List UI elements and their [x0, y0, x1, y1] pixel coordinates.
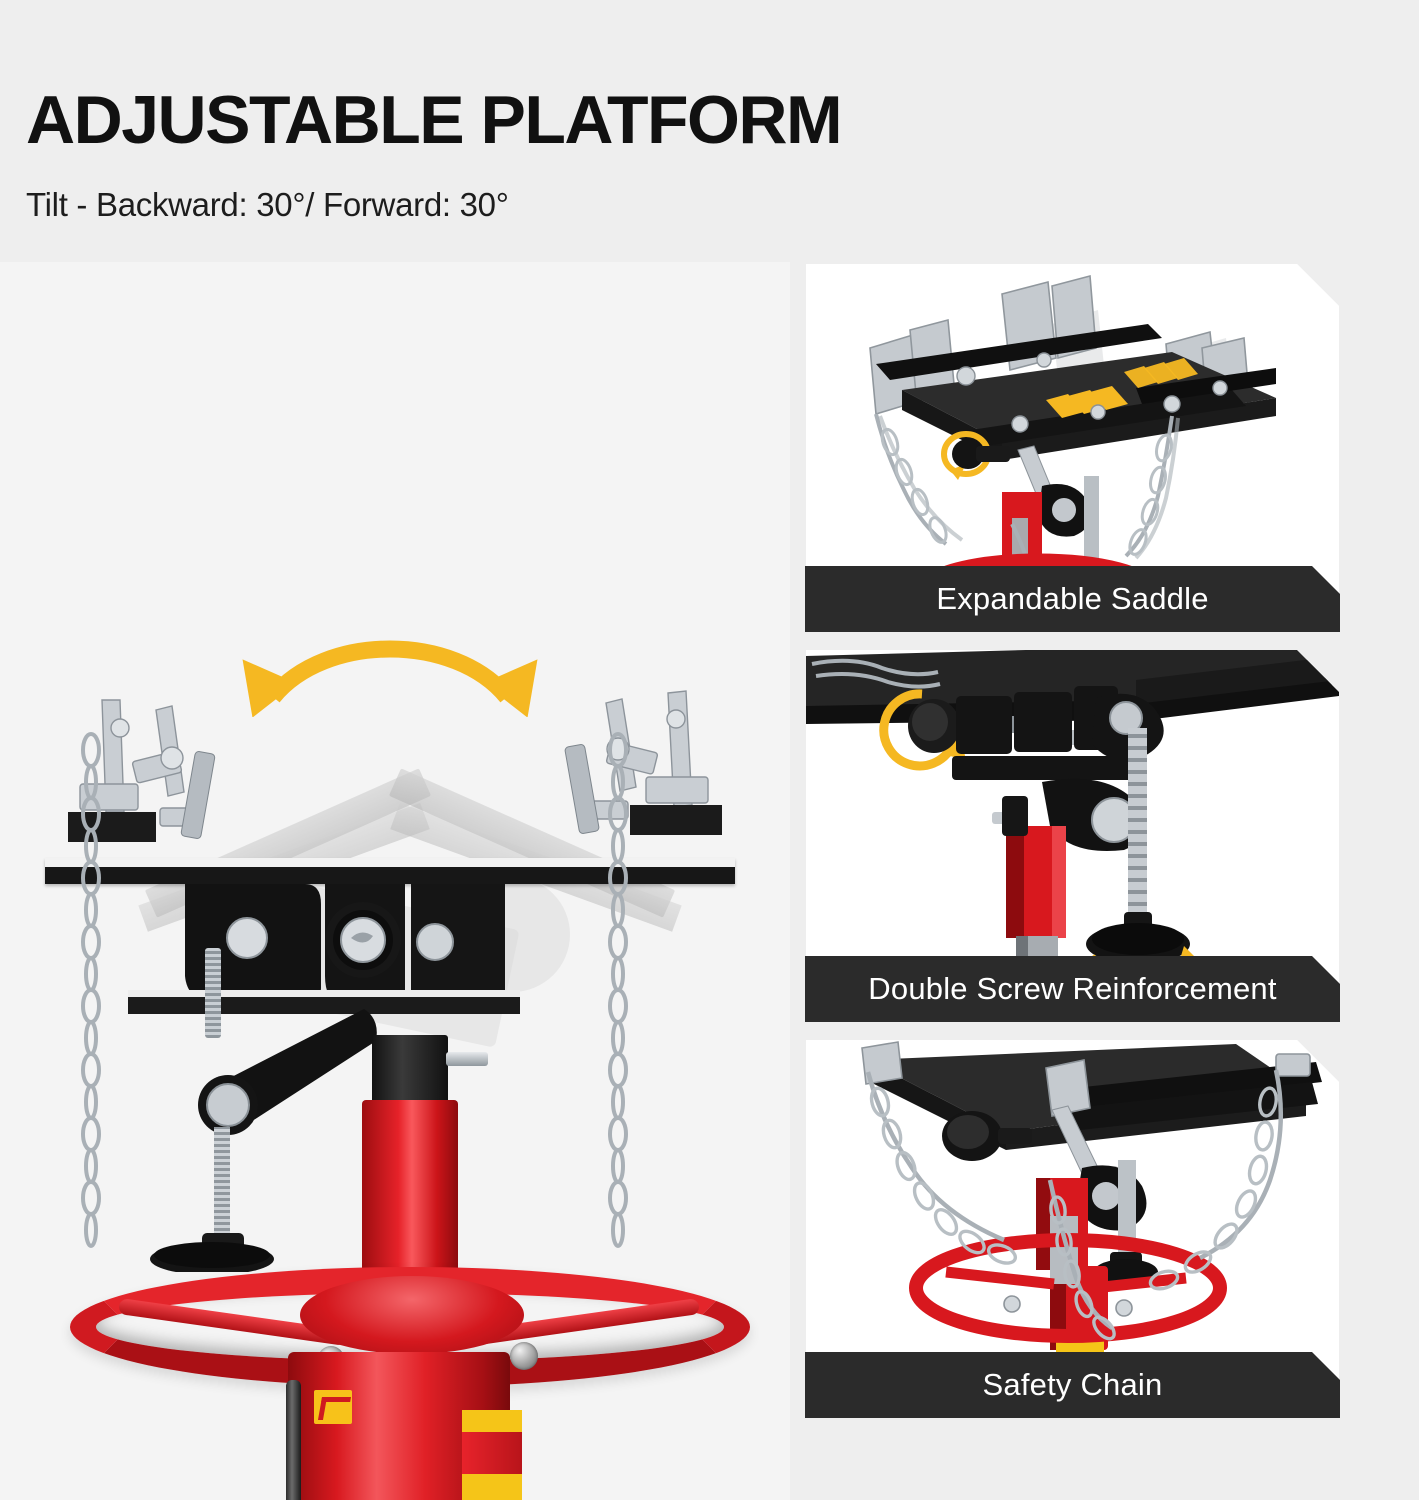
page-title: ADJUSTABLE PLATFORM [26, 86, 1206, 154]
safety-chain-left [78, 732, 104, 1252]
caption-text: Double Screw Reinforcement [868, 971, 1276, 1007]
caption-text: Safety Chain [983, 1367, 1163, 1403]
pedal-bolt-right [510, 1342, 538, 1370]
caption-double-screw: Double Screw Reinforcement [805, 956, 1340, 1022]
page-subtitle: Tilt - Backward: 30°/ Forward: 30° [26, 186, 1206, 224]
tilt-arc-arrow-icon [215, 627, 565, 717]
pedal-hub [300, 1276, 524, 1354]
saddle-corner-bracket-right [550, 687, 735, 882]
hydraulic-ram-collar [372, 1035, 448, 1103]
ram-side-pin [446, 1052, 488, 1066]
release-rod [286, 1380, 301, 1500]
capacity-warning-label [462, 1410, 522, 1500]
caption-expandable-saddle: Expandable Saddle [805, 566, 1340, 632]
reinforcement-screw-rod [205, 948, 221, 1038]
caption-safety-chain: Safety Chain [805, 1352, 1340, 1418]
safety-chain-right [605, 732, 631, 1262]
caption-text: Expandable Saddle [936, 581, 1208, 617]
hero-product-stage [0, 262, 790, 1500]
yellow-warning-tab [314, 1390, 352, 1424]
header: ADJUSTABLE PLATFORM Tilt - Backward: 30°… [26, 86, 1206, 224]
